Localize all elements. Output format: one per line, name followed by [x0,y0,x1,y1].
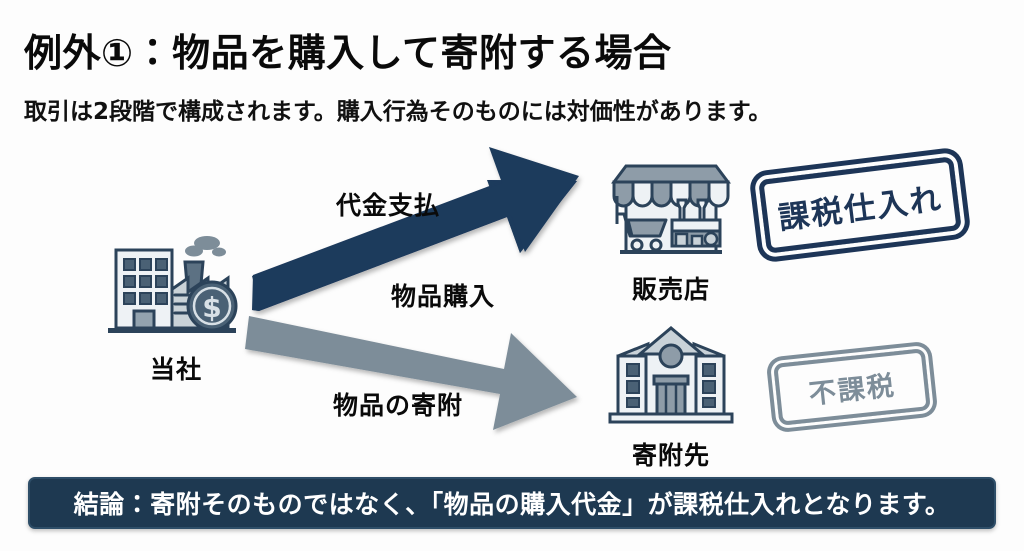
page-subtitle: 取引は2段階で構成されます。購入行為そのものには対価性があります。 [24,92,771,126]
flow-label-purchase: 物品購入 [391,277,495,313]
stamp-taxable-text: 課税仕入れ [758,156,962,253]
node-donee: 寄附先 [596,322,746,472]
page-title: 例外①：物品を購入して寄附する場合 [24,22,672,77]
node-company: $ 当社 [96,232,256,386]
flow-label-donation: 物品の寄附 [333,386,463,422]
node-store-label: 販売店 [596,270,746,306]
stamp-non-taxable-text: 不課税 [773,348,931,426]
svg-text:$: $ [202,291,221,324]
factory-building-money-icon: $ [96,232,256,344]
institution-building-icon [596,322,746,430]
storefront-shop-icon [596,152,746,264]
stamp-taxable-purchase: 課税仕入れ [758,156,962,253]
node-store: 販売店 [596,152,746,306]
stamp-non-taxable: 不課税 [773,348,931,426]
conclusion-text: 結論：寄附そのものではなく、「物品の購入代金」が課税仕入れとなります。 [74,485,951,521]
conclusion-banner: 結論：寄附そのものではなく、「物品の購入代金」が課税仕入れとなります。 [28,477,996,529]
slide-canvas: 例外①：物品を購入して寄附する場合 取引は2段階で構成されます。購入行為そのもの… [0,0,1024,551]
flow-label-payment: 代金支払 [336,186,440,222]
node-donee-label: 寄附先 [596,436,746,472]
node-company-label: 当社 [96,350,256,386]
